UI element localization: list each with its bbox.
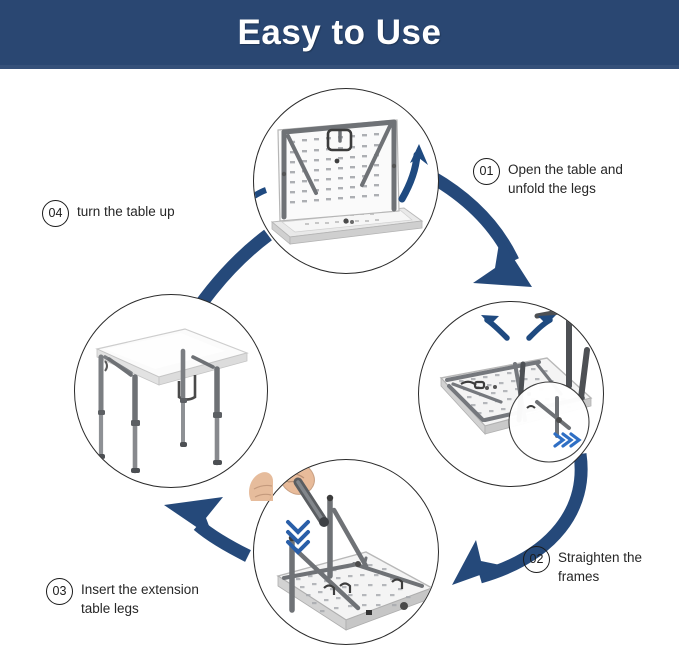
extension-leg-insertion-image <box>254 460 438 644</box>
step-badge-04: 04 <box>42 200 69 227</box>
step-text-01: Open the table and unfold the legs <box>508 158 623 198</box>
step-label-03[interactable]: 03 Insert the extension table legs <box>46 578 236 618</box>
zoom-inset-circle <box>509 382 589 462</box>
hand-with-leg <box>264 460 329 527</box>
step-label-01[interactable]: 01 Open the table and unfold the legs <box>473 158 648 198</box>
infographic-page: Easy to Use <box>0 0 679 654</box>
step-text-04: turn the table up <box>77 200 175 222</box>
step-text-02: Straighten the frames <box>558 546 642 586</box>
blue-open-arrow <box>402 144 428 199</box>
photo-circle-step-01[interactable] <box>253 88 439 274</box>
step-label-02[interactable]: 02 Straighten the frames <box>523 546 663 586</box>
arrow-step3-to-step4 <box>164 497 248 556</box>
photo-circle-step-03[interactable] <box>253 459 439 645</box>
page-title: Easy to Use <box>238 15 442 50</box>
step-label-04[interactable]: 04 turn the table up <box>42 200 217 227</box>
step-text-03: Insert the extension table legs <box>81 578 199 618</box>
assembled-table-upright-image <box>75 295 267 487</box>
photo-circle-step-04[interactable] <box>74 294 268 488</box>
step-badge-01: 01 <box>473 158 500 185</box>
header-banner: Easy to Use <box>0 0 679 65</box>
step-badge-02: 02 <box>523 546 550 573</box>
photo-circle-step-02[interactable] <box>418 301 604 487</box>
folded-table-opening-image <box>254 89 438 273</box>
step-badge-03: 03 <box>46 578 73 605</box>
blue-spread-arrows <box>481 315 556 338</box>
table-frames-straightening-image <box>419 302 603 486</box>
blue-down-chevrons <box>288 522 308 552</box>
hand-fragment-decoration <box>245 467 273 501</box>
